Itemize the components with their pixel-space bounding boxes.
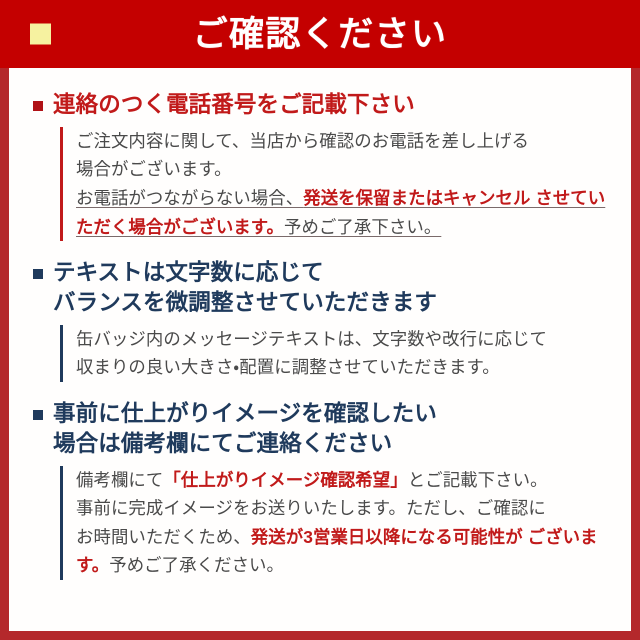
body-text-plain: とご記載下さい。: [408, 470, 548, 490]
bullet-square-icon: [33, 101, 43, 111]
section-phone-number: 連絡のつく電話番号をご記載下さい ご注文内容に関して、当店から確認のお電話を差し…: [33, 90, 607, 241]
body-line: 場合がございます。: [76, 155, 607, 184]
body-line: 事前に完成イメージをお送りいたします。ただし、ご確認に: [76, 494, 607, 523]
section-title: 事前に仕上がりイメージを確認したい 場合は備考欄にてご連絡ください: [53, 399, 437, 459]
section-body: 備考欄にて「仕上がりイメージ確認希望」とご記載下さい。 事前に完成イメージをお送…: [60, 466, 607, 580]
banner-title: ご確認ください: [193, 17, 448, 52]
section-proof-request: 事前に仕上がりイメージを確認したい 場合は備考欄にてご連絡ください 備考欄にて「…: [33, 399, 607, 580]
bullet-square-icon: [33, 410, 43, 420]
section-heading: 連絡のつく電話番号をご記載下さい: [33, 90, 607, 120]
body-text-plain: 予めご了承ください。: [109, 555, 284, 575]
body-line: 缶バッジ内のメッセージテキストは、文字数や改行に応じて: [76, 325, 607, 354]
section-heading: 事前に仕上がりイメージを確認したい 場合は備考欄にてご連絡ください: [33, 399, 607, 459]
notice-body: 連絡のつく電話番号をご記載下さい ご注文内容に関して、当店から確認のお電話を差し…: [9, 68, 631, 631]
bullet-square-icon: [33, 269, 43, 279]
body-text-plain: 備考欄にて: [76, 470, 163, 490]
section-title: 連絡のつく電話番号をご記載下さい: [53, 90, 415, 120]
header-banner: ご確認ください: [0, 0, 640, 68]
body-text-plain: お電話がつながらない場合、: [76, 188, 303, 208]
section-heading: テキストは文字数に応じて バランスを微調整させていただきます: [33, 258, 607, 318]
section-body: 缶バッジ内のメッセージテキストは、文字数や改行に応じて 収まりの良い大きさ・配置…: [60, 325, 607, 382]
body-text-plain: 予めご了承下さい。: [284, 217, 441, 237]
body-line: 収まりの良い大きさ・配置に調整させていただきます。: [76, 353, 607, 382]
body-line: 備考欄にて「仕上がりイメージ確認希望」とご記載下さい。: [76, 466, 607, 495]
body-line: ご注文内容に関して、当店から確認のお電話を差し上げる: [76, 127, 607, 156]
notice-card: ご確認ください 連絡のつく電話番号をご記載下さい ご注文内容に関して、当店から確…: [0, 0, 640, 640]
banner-square-icon: [30, 24, 51, 45]
section-title: テキストは文字数に応じて バランスを微調整させていただきます: [53, 258, 437, 318]
body-line: お時間いただくため、発送が3営業日以降になる可能性が ございます。予めご了承くだ…: [76, 523, 607, 580]
body-text-highlight: 「仕上がりイメージ確認希望」: [163, 470, 407, 490]
section-body: ご注文内容に関して、当店から確認のお電話を差し上げる 場合がございます。 お電話…: [60, 127, 607, 241]
section-text-balance: テキストは文字数に応じて バランスを微調整させていただきます 缶バッジ内のメッセ…: [33, 258, 607, 382]
body-line: お電話がつながらない場合、発送を保留またはキャンセル させていただく場合がござい…: [76, 184, 607, 241]
body-text-plain: お時間いただくため、: [76, 527, 251, 547]
